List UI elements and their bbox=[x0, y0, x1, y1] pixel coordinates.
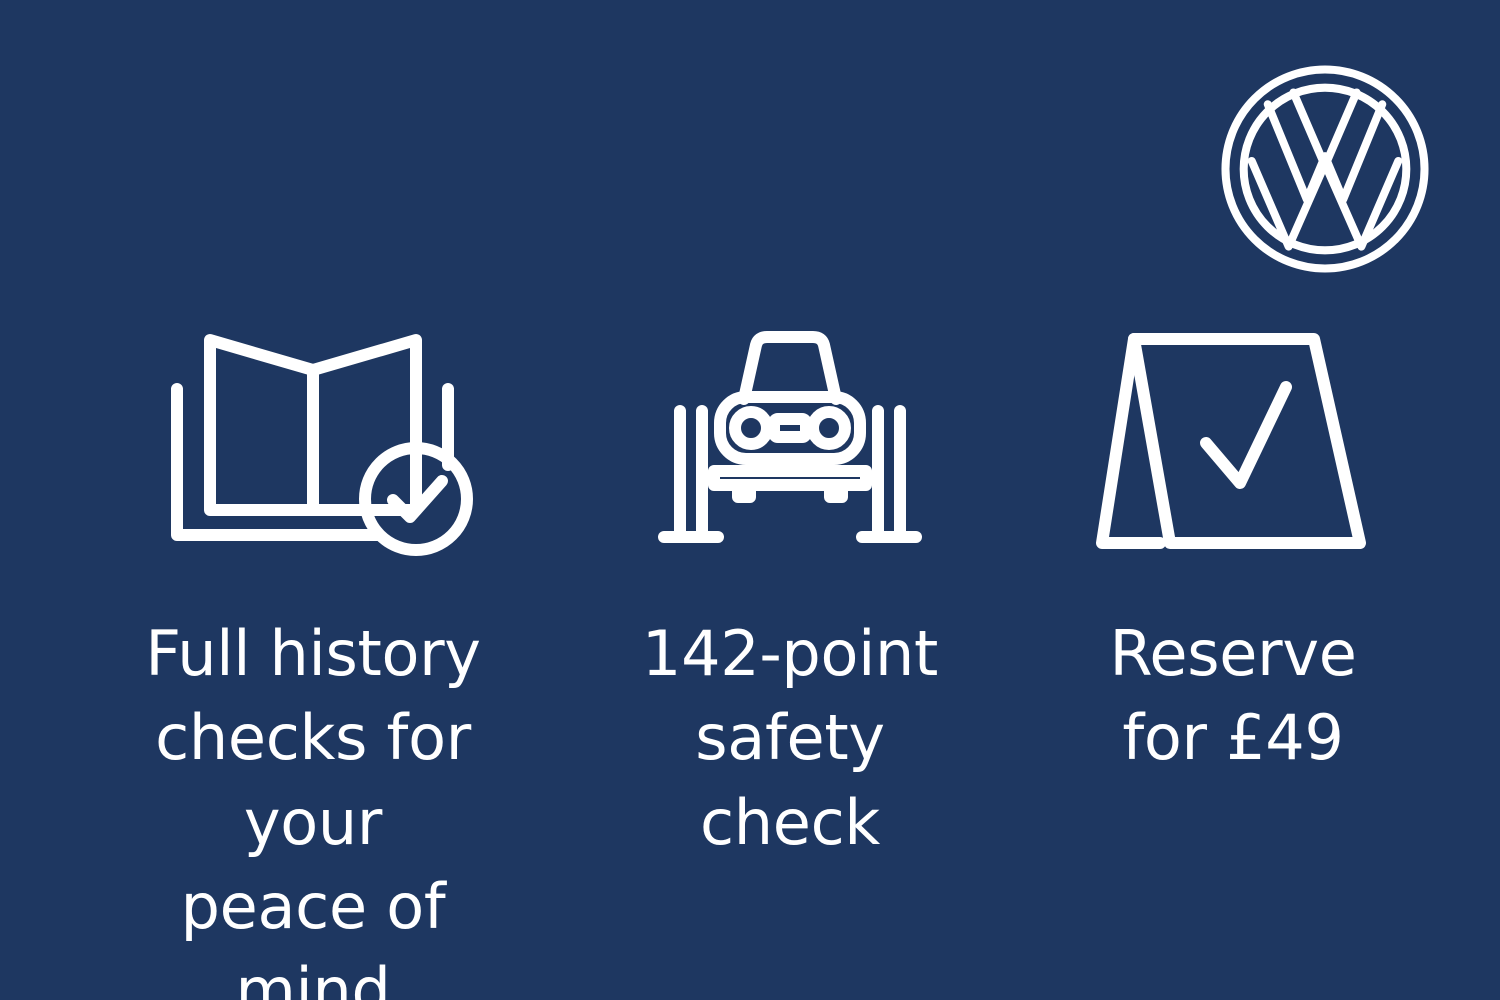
car-on-lift-icon bbox=[640, 318, 940, 568]
feature-item-safety-check: 142-point safety check bbox=[575, 318, 1005, 865]
reserved-sign-check-icon bbox=[1083, 318, 1383, 568]
feature-list: Full history checks for your peace of mi… bbox=[0, 0, 1500, 1000]
feature-label: Reserve for £49 bbox=[1018, 612, 1448, 781]
feature-label: Full history checks for your peace of mi… bbox=[98, 612, 528, 1000]
feature-label: 142-point safety check bbox=[575, 612, 1005, 865]
open-book-check-icon bbox=[163, 318, 463, 568]
feature-item-history-checks: Full history checks for your peace of mi… bbox=[98, 318, 528, 1000]
feature-item-reserve: Reserve for £49 bbox=[1018, 318, 1448, 781]
promo-poster: Full history checks for your peace of mi… bbox=[0, 0, 1500, 1000]
